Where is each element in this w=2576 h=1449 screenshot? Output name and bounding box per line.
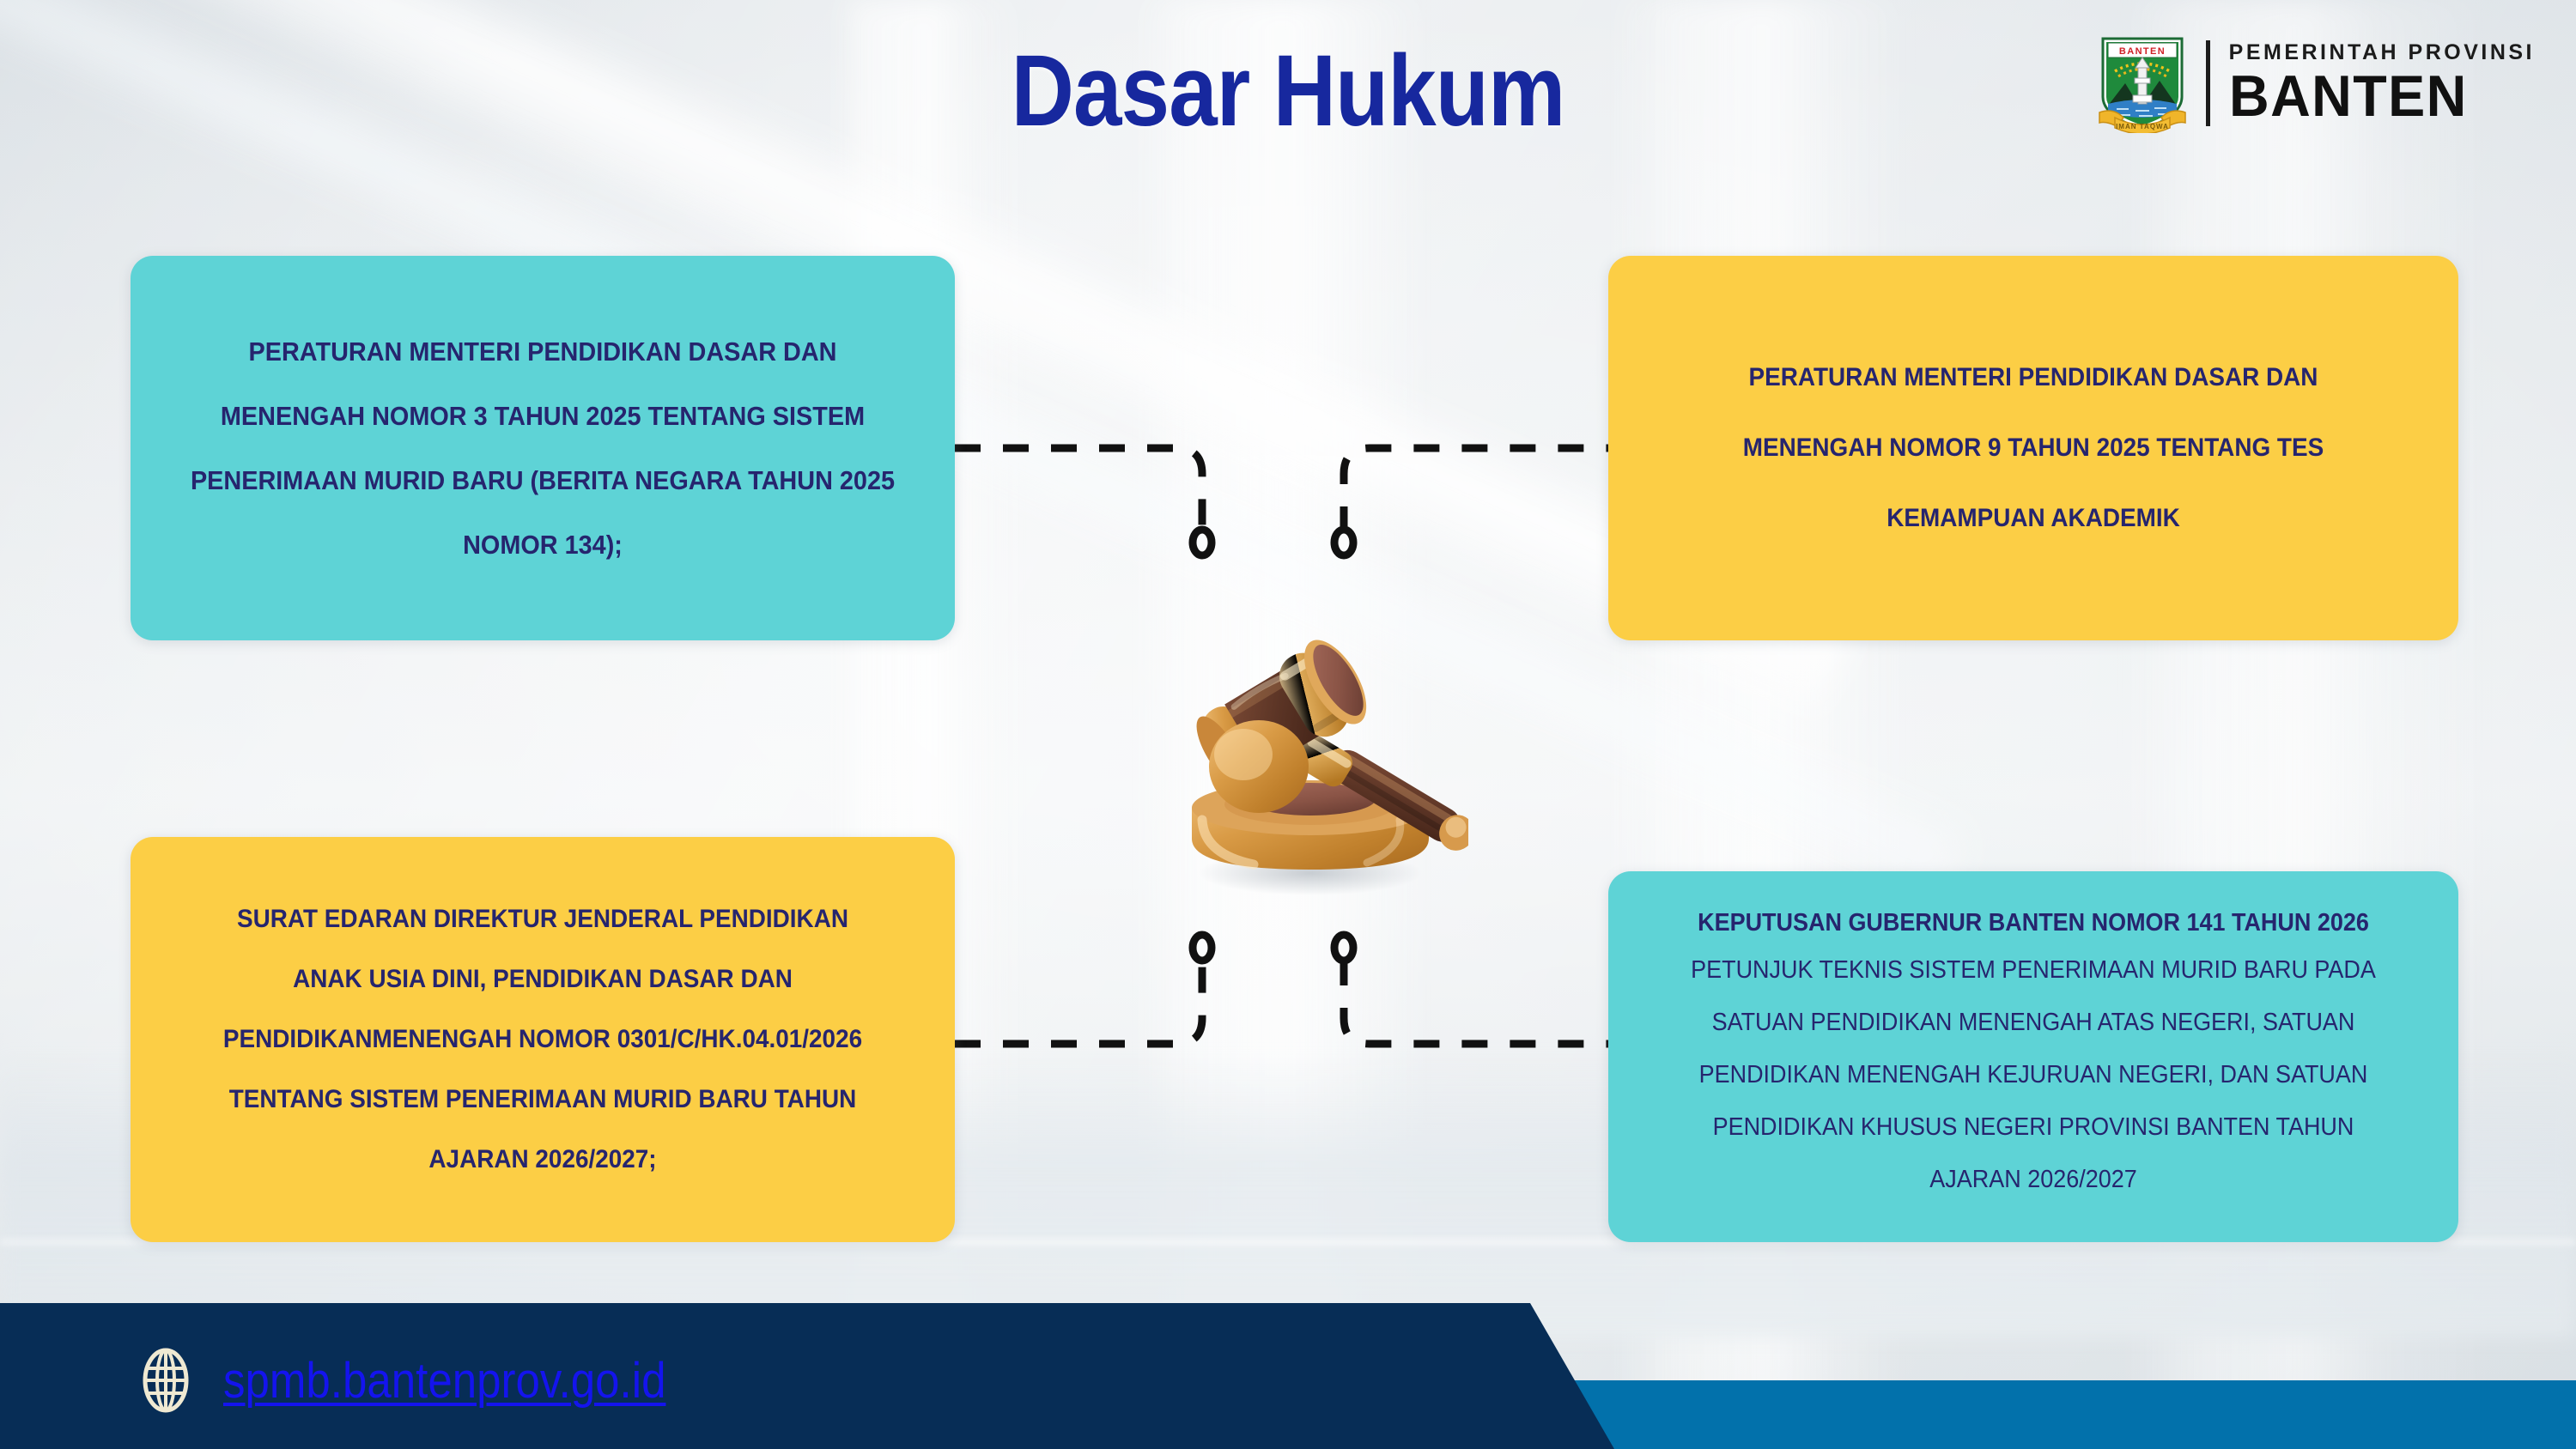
card-line: PENDIDIKAN MENENGAH KEJURUAN NEGERI, DAN…	[1654, 1063, 2413, 1088]
card-line: SURAT EDARAN DIREKTUR JENDERAL PENDIDIKA…	[186, 906, 899, 932]
website-url[interactable]: spmb.bantenprov.go.id	[223, 1352, 665, 1410]
logo-wordmark: PEMERINTAH PROVINSI BANTEN	[2229, 42, 2535, 125]
svg-text:BANTEN: BANTEN	[2119, 46, 2166, 57]
logo-divider	[2206, 40, 2210, 126]
card-line: KEMAMPUAN AKADEMIK	[1665, 506, 2401, 531]
card-line: MENENGAH NOMOR 9 TAHUN 2025 TENTANG TES	[1665, 435, 2401, 461]
card-line: AJARAN 2026/2027;	[186, 1147, 899, 1173]
footer-website[interactable]: spmb.bantenprov.go.id	[137, 1346, 726, 1415]
svg-text:IMAN TAQWA: IMAN TAQWA	[2116, 123, 2169, 130]
card-line: PERATURAN MENTERI PENDIDIKAN DASAR DAN	[186, 338, 899, 365]
slide-root: Dasar Hukum BANTEN	[0, 0, 2576, 1449]
card-line: TENTANG SISTEM PENERIMAAN MURID BARU TAH…	[186, 1087, 899, 1113]
card-line: PETUNJUK TEKNIS SISTEM PENERIMAAN MURID …	[1654, 958, 2413, 983]
card-line: SATUAN PENDIDIKAN MENENGAH ATAS NEGERI, …	[1654, 1010, 2413, 1035]
card-line: PENERIMAAN MURID BARU (BERITA NEGARA TAH…	[186, 467, 899, 494]
card-top-left[interactable]: PERATURAN MENTERI PENDIDIKAN DASAR DAN M…	[131, 256, 955, 640]
card-line: MENENGAH NOMOR 3 TAHUN 2025 TENTANG SIST…	[186, 403, 899, 429]
globe-icon	[137, 1348, 194, 1413]
card-line: PERATURAN MENTERI PENDIDIKAN DASAR DAN	[1665, 365, 2401, 391]
logo-wordmark-top: PEMERINTAH PROVINSI	[2229, 42, 2535, 64]
gavel-icon	[1142, 537, 1468, 897]
card-line: NOMOR 134);	[186, 531, 899, 558]
logo-wordmark-main: BANTEN	[2229, 67, 2520, 125]
page-title: Dasar Hukum	[180, 33, 2396, 149]
card-line: PENDIDIKAN KHUSUS NEGERI PROVINSI BANTEN…	[1654, 1115, 2413, 1140]
card-line: PENDIDIKANMENENGAH NOMOR 0301/C/HK.04.01…	[186, 1027, 899, 1052]
banten-logo: BANTEN IMAN TAQWA PEMERINTAH PROVINSI	[2098, 33, 2535, 134]
card-bottom-left[interactable]: SURAT EDARAN DIREKTUR JENDERAL PENDIDIKA…	[131, 837, 955, 1242]
card-bottom-right[interactable]: KEPUTUSAN GUBERNUR BANTEN NOMOR 141 TAHU…	[1608, 871, 2458, 1242]
card-top-right[interactable]: PERATURAN MENTERI PENDIDIKAN DASAR DAN M…	[1608, 256, 2458, 640]
card-line: AJARAN 2026/2027	[1654, 1167, 2413, 1192]
banten-crest-icon: BANTEN IMAN TAQWA	[2098, 33, 2187, 133]
card-line: ANAK USIA DINI, PENDIDIKAN DASAR DAN	[186, 967, 899, 992]
card-heading: KEPUTUSAN GUBERNUR BANTEN NOMOR 141 TAHU…	[1654, 911, 2413, 936]
